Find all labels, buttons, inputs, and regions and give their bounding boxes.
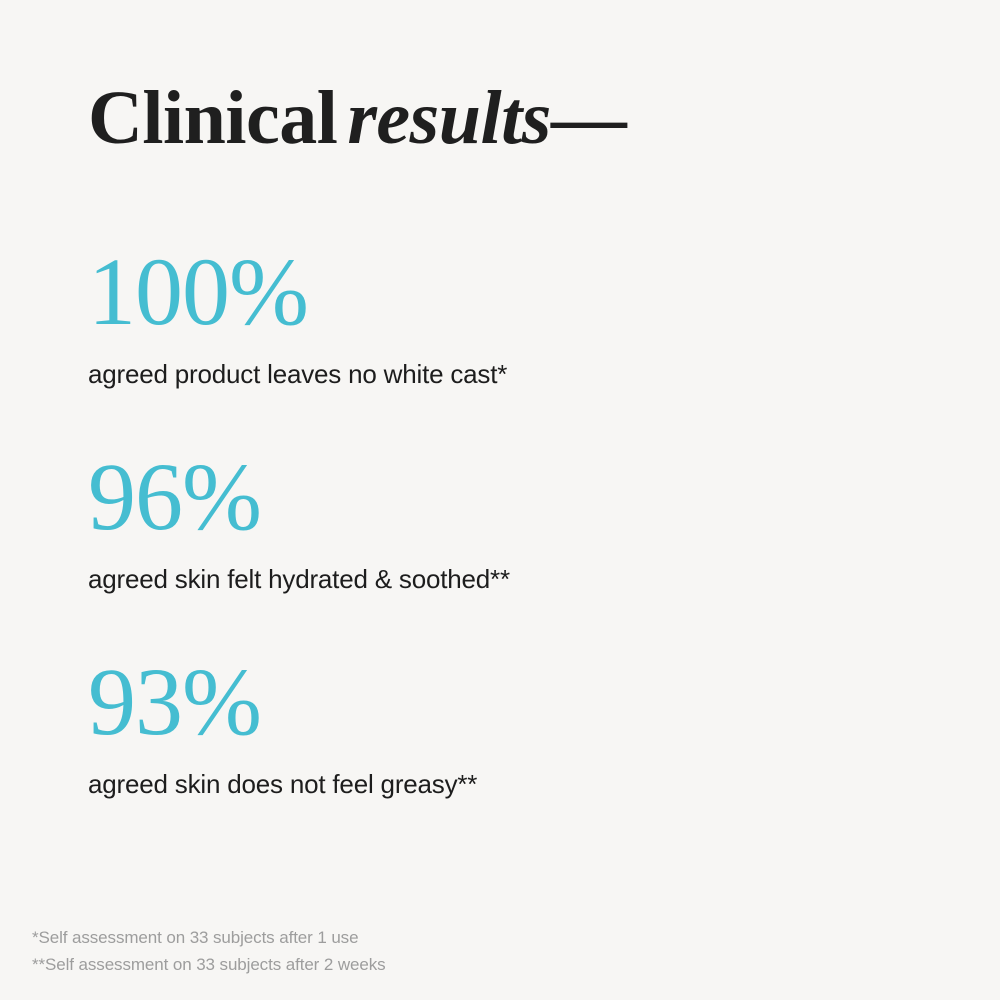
footnote-line: **Self assessment on 33 subjects after 2…	[32, 952, 386, 978]
stats-list: 100% agreed product leaves no white cast…	[88, 248, 808, 800]
stat-value: 93%	[88, 658, 808, 746]
stat-item: 100% agreed product leaves no white cast…	[88, 248, 808, 391]
clinical-results-card: Clinicalresults— 100% agreed product lea…	[0, 0, 1000, 1000]
footnotes: *Self assessment on 33 subjects after 1 …	[32, 925, 386, 978]
page-title-emphasis: results	[347, 76, 550, 160]
stat-label: agreed product leaves no white cast*	[88, 358, 808, 391]
stat-value: 100%	[88, 248, 808, 336]
stat-value: 96%	[88, 453, 808, 541]
page-title: Clinicalresults—	[88, 80, 625, 156]
stat-label: agreed skin felt hydrated & soothed**	[88, 563, 808, 596]
stat-item: 93% agreed skin does not feel greasy**	[88, 658, 808, 801]
page-title-dash: —	[551, 76, 625, 160]
stat-item: 96% agreed skin felt hydrated & soothed*…	[88, 453, 808, 596]
stat-label: agreed skin does not feel greasy**	[88, 768, 808, 801]
page-title-primary: Clinical	[88, 76, 337, 160]
footnote-line: *Self assessment on 33 subjects after 1 …	[32, 925, 386, 951]
